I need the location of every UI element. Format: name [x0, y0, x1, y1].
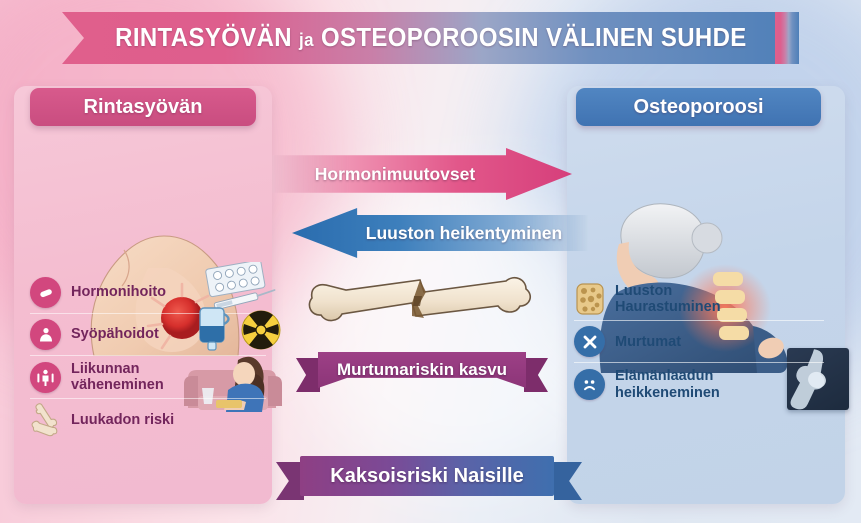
title-banner: RINTASYÖVÄN ja OSTEOPOROOSIN VÄLINEN SUH… — [62, 12, 799, 64]
ribbon-fracture-risk-tail-left — [296, 358, 320, 392]
porous-bone-icon — [574, 284, 605, 315]
ribbon-fracture-risk-tail-right — [524, 358, 548, 392]
list-item[interactable]: Murtumat — [574, 320, 824, 362]
list-item[interactable]: Hormonihoito — [30, 272, 266, 313]
ribbon-double-risk-label: Kaksoisriski Naisille — [330, 465, 523, 488]
broken-bones-icon — [30, 404, 61, 435]
list-item-label: Hormonihoito — [71, 284, 166, 300]
panel-header-left-label: Rintasyövän — [84, 96, 203, 119]
ribbon-fracture-risk: Murtumariskin kasvu — [318, 352, 526, 388]
ribbon-fracture-risk-label: Murtumariskin kasvu — [337, 360, 507, 380]
list-item-label: Syöpähoidot — [71, 326, 159, 342]
arrow-bone-weakening: Luuston heikentyminen — [292, 208, 588, 258]
list-item-label: Murtumat — [615, 334, 681, 350]
ribbon-double-risk-tail-left — [276, 462, 304, 500]
panel-header-breast-cancer: Rintasyövän — [30, 88, 256, 126]
consequence-list-osteoporosis: Luuston Haurastuminen Murtumat Elämänlaa… — [574, 278, 824, 406]
x-mark-icon — [574, 326, 605, 357]
ribbon-double-risk: Kaksoisriski Naisille — [300, 456, 554, 496]
page-title: RINTASYÖVÄN ja OSTEOPOROOSIN VÄLINEN SUH… — [115, 24, 746, 53]
list-item-label: Elämänlaadun heikkeneminen — [615, 368, 720, 400]
reduced-activity-icon — [30, 362, 61, 393]
list-item[interactable]: Elämänlaadun heikkeneminen — [574, 362, 824, 405]
title-conjunction: ja — [299, 30, 314, 50]
pill-icon — [30, 277, 61, 308]
arrow-hormone-changes: Hormonimuutovset — [272, 148, 572, 200]
sad-face-icon — [574, 369, 605, 400]
infographic-canvas: Rintasyövän Osteoporoosi RINTASYÖVÄN ja … — [0, 0, 861, 523]
list-item[interactable]: Luukadon riski — [30, 398, 266, 440]
risk-factor-list-breast-cancer: Hormonihoito — [30, 272, 266, 440]
panel-header-osteoporosis: Osteoporoosi — [576, 88, 821, 126]
list-item-label: Luuston Haurastuminen — [615, 283, 721, 315]
fractured-bone-illustration — [308, 276, 532, 338]
chemo-patient-icon — [30, 319, 61, 350]
list-item-label: Luukadon riski — [71, 412, 174, 428]
panel-header-right-label: Osteoporoosi — [633, 96, 763, 119]
list-item[interactable]: Liikunnan väheneminen — [30, 355, 266, 398]
arrow-hormone-changes-label: Hormonimuutovset — [315, 164, 529, 185]
list-item[interactable]: Syöpähoidot — [30, 313, 266, 355]
title-part-1: RINTASYÖVÄN — [115, 24, 292, 52]
list-item[interactable]: Luuston Haurastuminen — [574, 278, 824, 320]
list-item-label: Liikunnan väheneminen — [71, 361, 164, 393]
title-part-2: OSTEOPOROOSIN VÄLINEN SUHDE — [321, 24, 747, 52]
arrow-bone-weakening-label: Luuston heikentyminen — [318, 223, 562, 244]
